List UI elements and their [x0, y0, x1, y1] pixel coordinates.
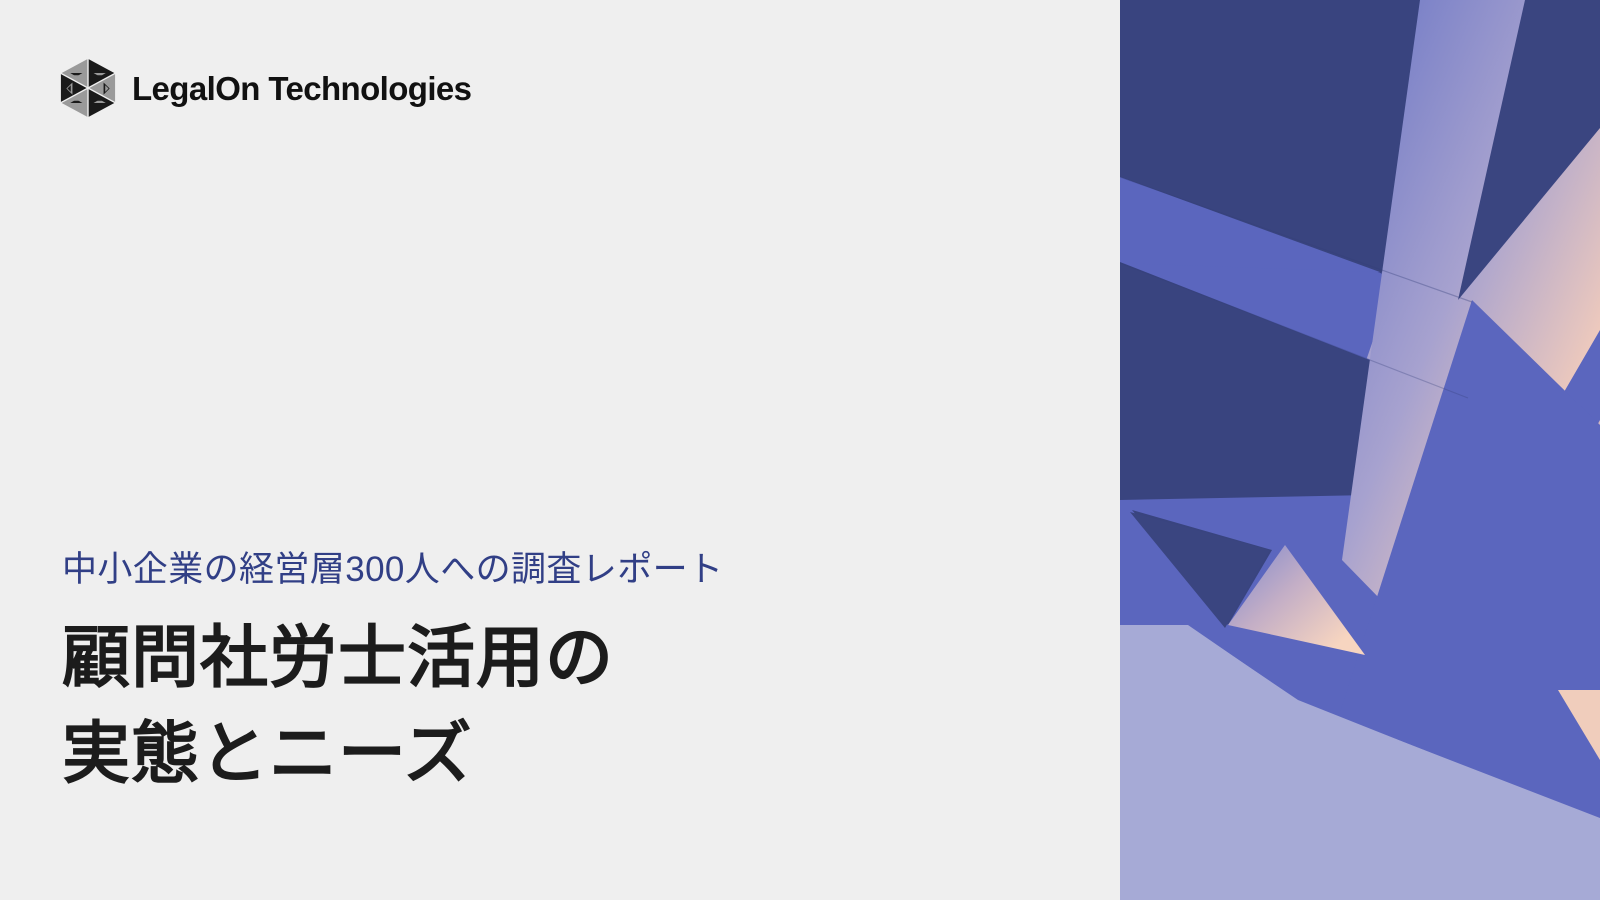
page-title-line-1: 顧問社労士活用の [62, 610, 1062, 707]
abstract-geometric-gradient-artwork [1120, 0, 1600, 900]
cover-eyebrow: 中小企業の経営層300人への調査レポート [62, 548, 1062, 592]
legalon-hexagon-logo-icon [60, 58, 116, 118]
artwork-svg [1120, 0, 1600, 900]
brand-logo-lockup[interactable]: LegalOn Technologies [60, 58, 471, 118]
brand-wordmark: LegalOn Technologies [132, 72, 471, 105]
cover-title-block: 中小企業の経営層300人への調査レポート 顧問社労士活用の 実態とニーズ [62, 548, 1062, 803]
page-title-line-2: 実態とニーズ [62, 706, 1062, 803]
page-title: 顧問社労士活用の 実態とニーズ [62, 610, 1062, 803]
report-cover-slide: LegalOn Technologies 中小企業の経営層300人への調査レポー… [0, 0, 1600, 900]
